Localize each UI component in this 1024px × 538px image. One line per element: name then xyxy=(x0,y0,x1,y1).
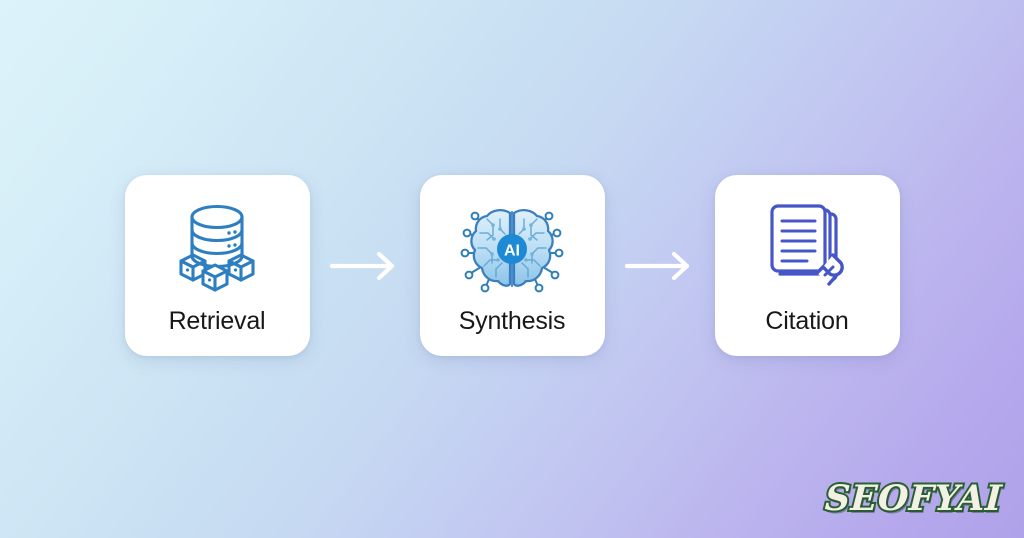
database-cubes-icon xyxy=(165,201,269,297)
ai-badge-text: AI xyxy=(504,243,520,260)
step-label-citation: Citation xyxy=(765,309,848,334)
flow-diagram: Retrieval xyxy=(0,175,1024,356)
step-card-citation[interactable]: Citation xyxy=(715,175,900,356)
step-label-retrieval: Retrieval xyxy=(169,309,266,334)
arrow-right-icon-2 xyxy=(605,246,715,286)
document-link-icon xyxy=(755,201,859,297)
step-card-synthesis[interactable]: AI Synthesis xyxy=(420,175,605,356)
step-label-synthesis: Synthesis xyxy=(459,309,566,334)
step-card-retrieval[interactable]: Retrieval xyxy=(125,175,310,356)
ai-brain-circuit-icon: AI xyxy=(460,201,564,297)
seofyai-watermark-logo: SEOFYAI xyxy=(824,481,1003,516)
diagram-canvas: Retrieval xyxy=(0,0,1024,538)
arrow-right-icon-1 xyxy=(310,246,420,286)
